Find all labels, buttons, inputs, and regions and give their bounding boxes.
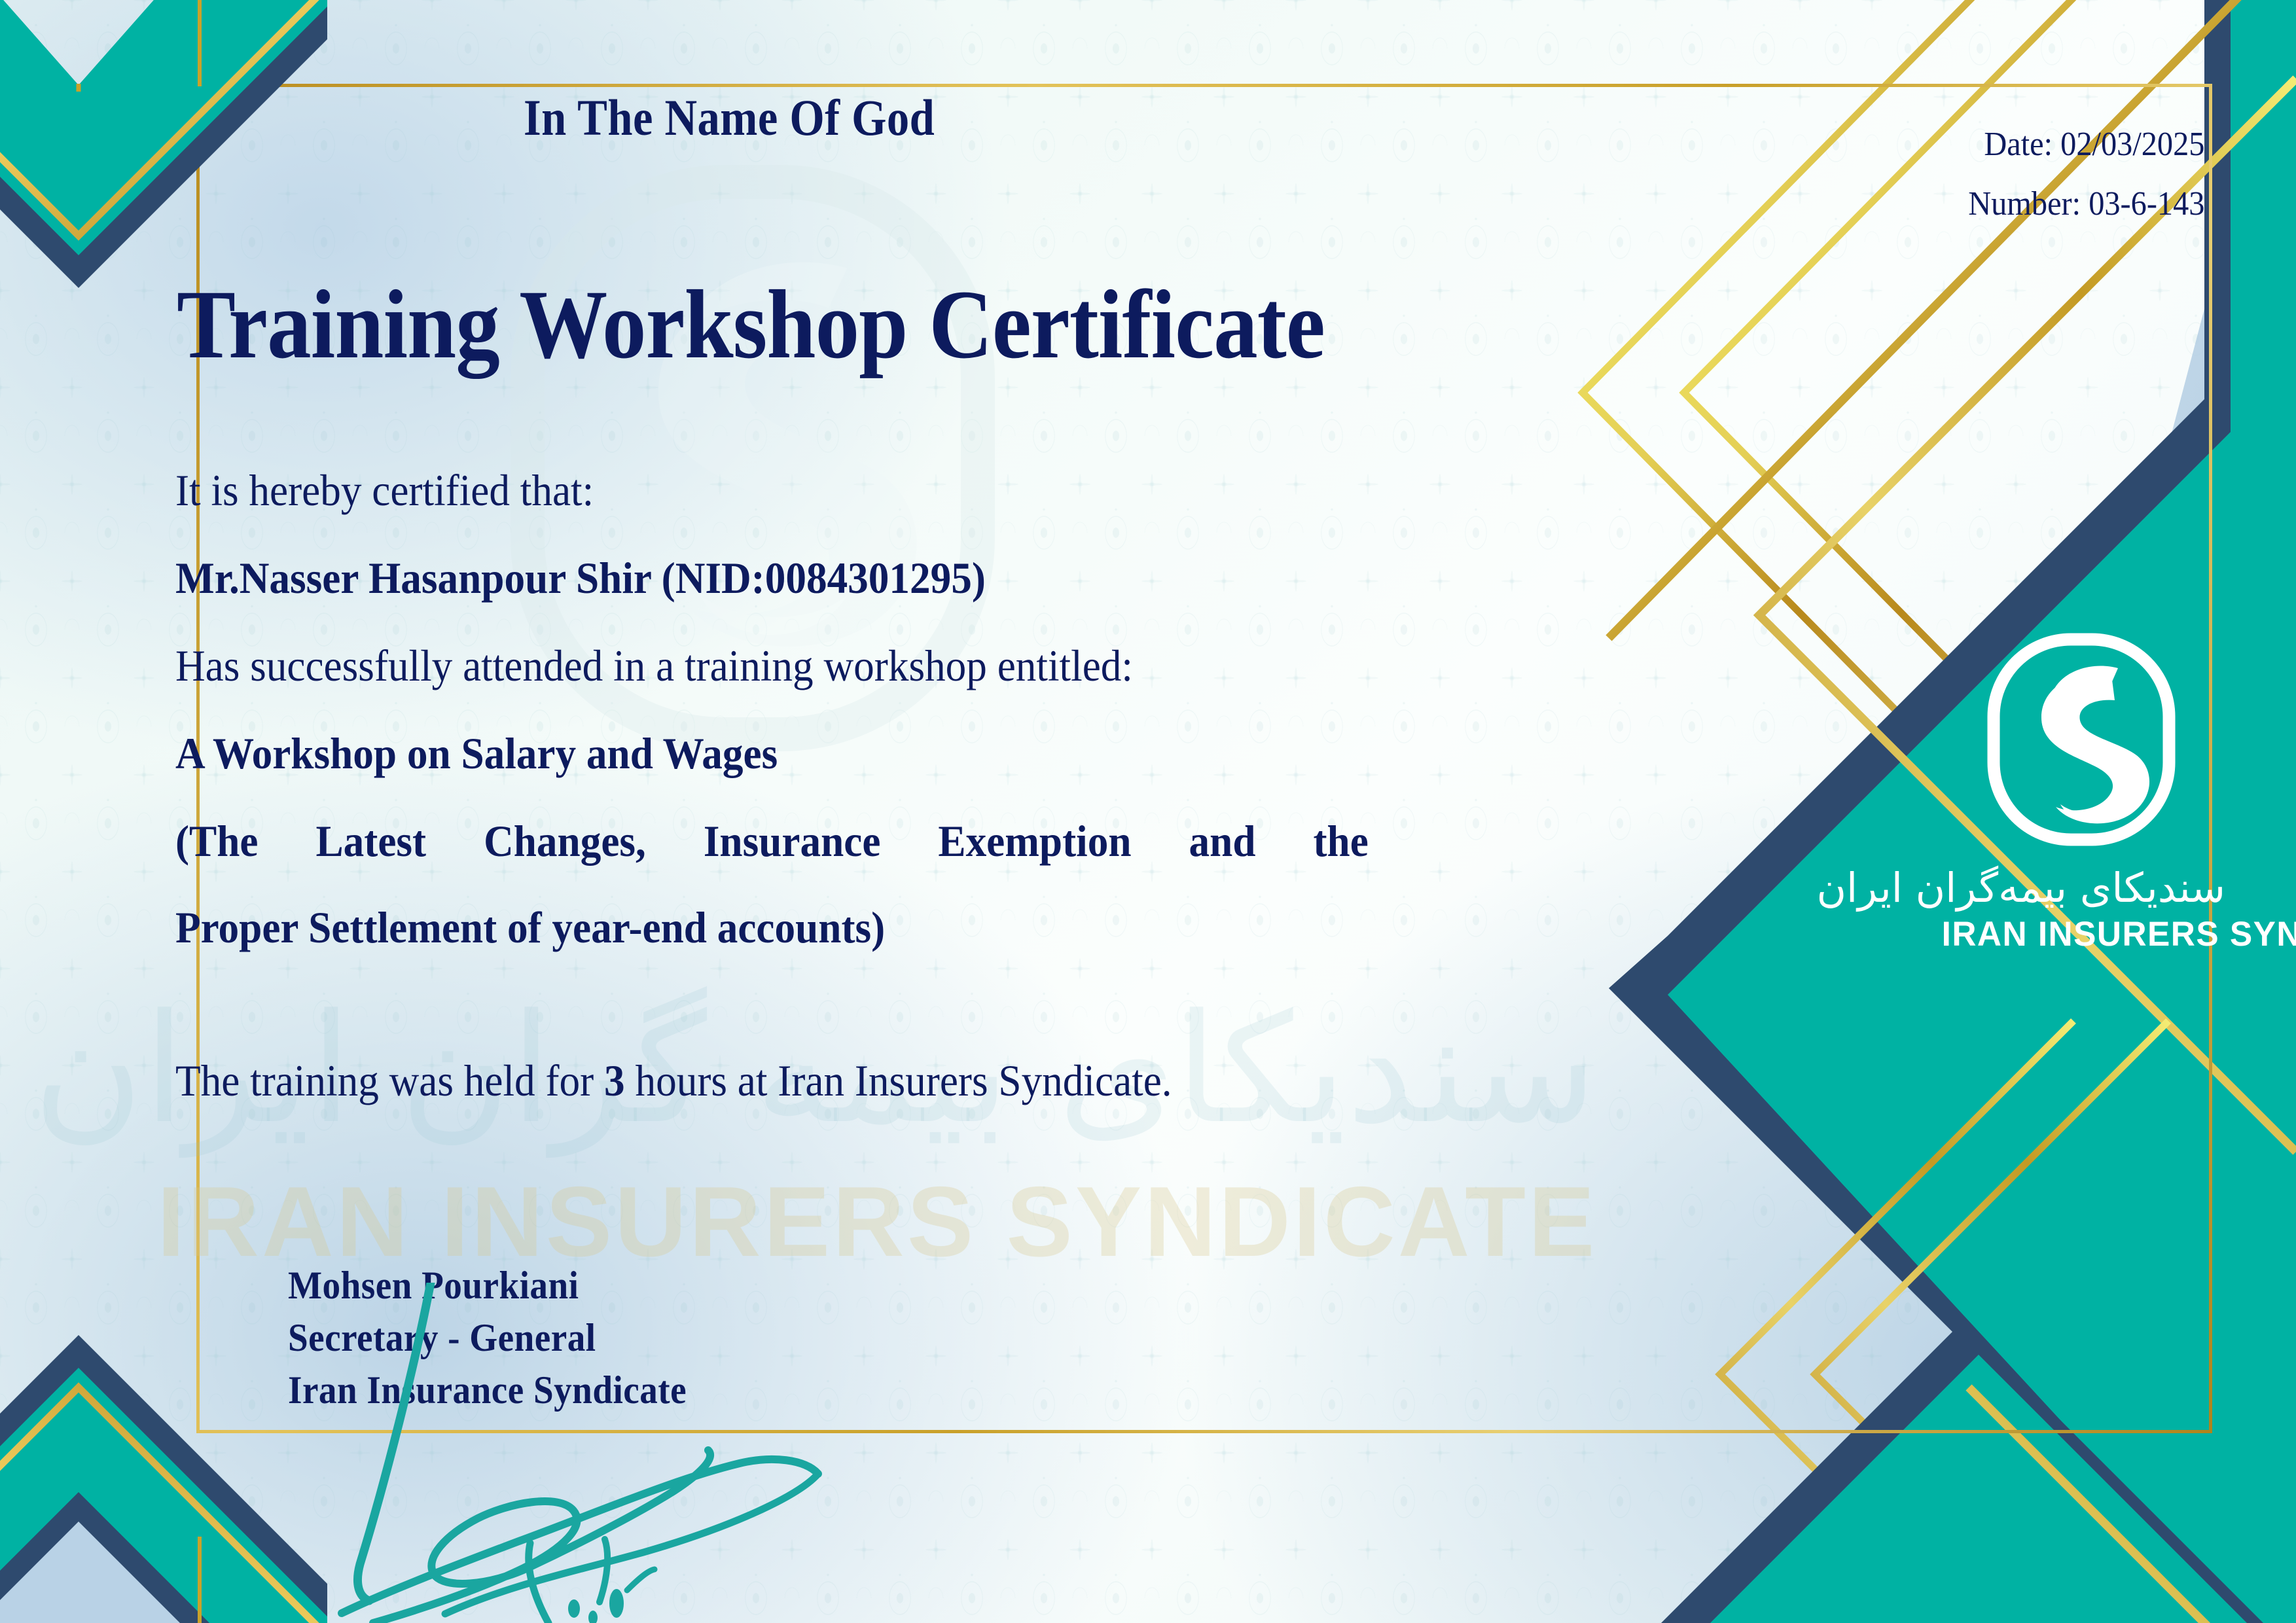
- attended-line: Has successfully attended in a training …: [175, 643, 1369, 688]
- syndicate-logo-icon: [1983, 632, 2179, 847]
- workshop-subtitle-line-1: (The Latest Changes, Insurance Exemption…: [175, 819, 1369, 863]
- signatory-role: Secretary - General: [288, 1312, 687, 1364]
- page-title: Training Workshop Certificate: [177, 268, 1325, 381]
- duration-suffix: hours at Iran Insurers Syndicate.: [625, 1056, 1172, 1105]
- gold-border-connector-top: [198, 0, 202, 86]
- syndicate-logo-block: سندیکای بیمه‌گران ایران IRAN INSURERS SY…: [1937, 632, 2225, 954]
- workshop-subtitle-line-2: Proper Settlement of year-end accounts): [175, 905, 1369, 950]
- duration-prefix: The training was held for: [175, 1056, 604, 1105]
- certificate-number: Number: 03-6-143: [1968, 174, 2204, 234]
- training-duration-line: The training was held for 3 hours at Ira…: [175, 1055, 1172, 1107]
- certificate-body: It is hereby certified that: Mr.Nasser H…: [175, 468, 1458, 950]
- logo-english-name: IRAN INSURERS SYNDICATE: [1942, 914, 2221, 954]
- certified-intro-line: It is hereby certified that:: [175, 468, 1369, 512]
- certificate-meta: Date: 02/03/2025 Number: 03-6-143: [1950, 115, 2204, 234]
- signatory-name: Mohsen Pourkiani: [288, 1260, 687, 1312]
- signature-block: Mohsen Pourkiani Secretary - General Ira…: [288, 1260, 687, 1416]
- issue-date: Date: 02/03/2025: [1968, 115, 2204, 174]
- gold-border-connector-bottom: [198, 1537, 202, 1623]
- recipient-name: Mr.Nasser Hasanpour Shir (NID:0084301295…: [175, 556, 1369, 600]
- duration-hours: 3: [604, 1056, 625, 1105]
- signatory-organization: Iran Insurance Syndicate: [288, 1364, 687, 1417]
- workshop-title: A Workshop on Salary and Wages: [175, 731, 1369, 776]
- bismillah-heading: In The Name Of God: [524, 88, 935, 147]
- certificate-page: سندیکای بیمه گران ایران IRAN INSURERS SY…: [0, 0, 2296, 1623]
- logo-persian-name: سندیکای بیمه‌گران ایران: [1937, 866, 2225, 910]
